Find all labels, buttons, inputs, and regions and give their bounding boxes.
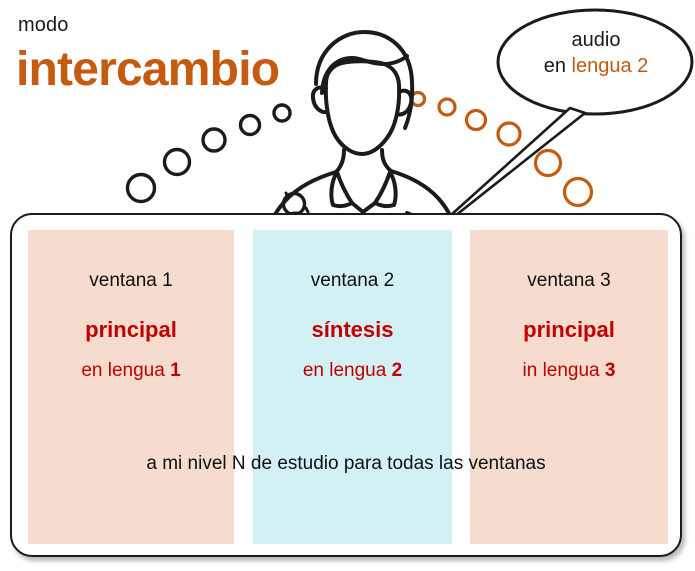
speech-bubble-line-2-prefix: en [544,55,572,77]
board-footer-note: a mi nivel N de estudio para todas las v… [12,453,680,475]
bubble-circle [412,93,425,106]
hair-outline [316,32,412,128]
header-eyebrow: modo [18,14,68,37]
window-panel-3[interactable]: ventana 3 principal in lengua 3 [470,230,668,544]
window-1-name: ventana 1 [28,270,234,292]
window-1-language-number: 1 [170,360,181,381]
collar-center [352,203,375,212]
window-panel-1[interactable]: ventana 1 principal en lengua 1 [28,230,234,544]
window-2-language: en lengua 2 [253,360,452,382]
window-3-language-number: 3 [605,360,616,381]
orange-bubble-trail [412,93,592,206]
shirt-accent [286,193,288,198]
bubble-circle [565,179,592,206]
bubble-circle [467,111,486,130]
collar-right [375,172,396,206]
page-title: intercambio [16,42,279,97]
neck-right [382,150,391,171]
bubble-circle [284,194,305,215]
bubble-circle [203,129,225,151]
right-ear [397,91,411,115]
bubble-circle [439,99,455,115]
left-ear [313,88,327,113]
collar-left [331,172,352,206]
bubble-circle [498,123,520,145]
bubble-circle [536,151,561,176]
bubble-circle [274,105,290,121]
window-2-name: ventana 2 [253,270,452,292]
window-2-role: síntesis [253,317,452,343]
window-3-language-prefix: in lengua [523,360,605,381]
bubble-circle [241,116,260,135]
window-2-language-number: 2 [392,360,403,381]
bubble-circle [128,175,155,202]
face-outline [326,61,399,154]
hair-fringe [322,56,407,93]
diagram-canvas: modo intercambio [0,0,695,571]
window-panel-2[interactable]: ventana 2 síntesis en lengua 2 [253,230,452,544]
bubble-circle [165,150,190,175]
speech-bubble-line-1: audio [512,27,680,53]
window-1-language-prefix: en lengua [81,360,170,381]
speech-bubble-line-2: en lengua 2 [512,53,680,79]
windows-board: ventana 1 principal en lengua 1 ventana … [10,213,682,557]
neck-left [336,150,344,172]
black-bubble-trail [128,105,305,215]
window-3-role: principal [470,317,668,343]
window-1-role: principal [28,317,234,343]
window-2-language-prefix: en lengua [303,360,392,381]
window-1-language: en lengua 1 [28,360,234,382]
speech-bubble-text: audio en lengua 2 [512,27,680,80]
window-3-name: ventana 3 [470,270,668,292]
shirt-accent [306,208,308,212]
speech-bubble-line-2-highlight: lengua 2 [572,55,649,77]
window-3-language: in lengua 3 [470,360,668,382]
